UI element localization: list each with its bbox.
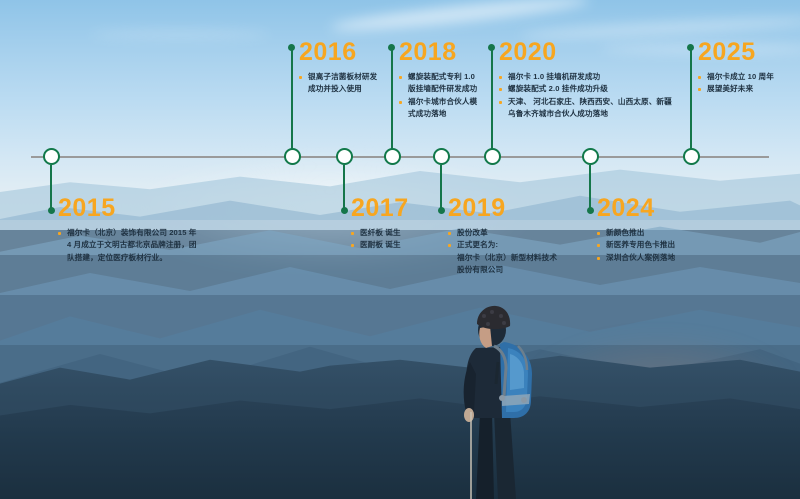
bullet-item: 福尔卡成立 10 周年 (698, 71, 793, 83)
milestone-year-2017: 2017 (351, 196, 441, 221)
timeline-node-2016[interactable] (284, 148, 301, 165)
milestone-2024[interactable]: 2024 新颜色推出 新医养专用色卡推出 深圳合伙人案例落地 (597, 196, 712, 264)
milestone-2016[interactable]: 2016 银离子洁菌板材研发 成功并投入使用 (299, 40, 394, 96)
milestone-year-2019: 2019 (448, 196, 583, 221)
milestone-2017[interactable]: 2017 医纤板 诞生 医耐板 诞生 (351, 196, 441, 252)
milestone-bullets-2019: 股份改革 正式更名为: 福尔卡（北京）新型材料技术 股份有限公司 (448, 227, 583, 276)
bullet-item: 深圳合伙人案例落地 (597, 252, 712, 264)
milestone-2025[interactable]: 2025 福尔卡成立 10 周年 展望美好未来 (698, 40, 793, 96)
timeline-stem-cap-2016 (288, 44, 295, 51)
bullet-item: 银离子洁菌板材研发 (299, 71, 394, 83)
milestone-bullets-2018: 螺旋装配式专利 1.0 版挂墙配件研发成功 福尔卡城市合伙人模 式成功落地 (399, 71, 497, 120)
bullet-item-continued: 福尔卡（北京）新型材料技术 (448, 252, 583, 264)
timeline-node-2024[interactable] (582, 148, 599, 165)
milestone-2019[interactable]: 2019 股份改革 正式更名为: 福尔卡（北京）新型材料技术 股份有限公司 (448, 196, 583, 276)
milestone-year-2015: 2015 (58, 196, 243, 221)
timeline-infographic: 2015 福尔卡（北京）装饰有限公司 2015 年 4 月成立于文明古都北京品牌… (0, 0, 800, 499)
milestone-bullets-2024: 新颜色推出 新医养专用色卡推出 深圳合伙人案例落地 (597, 227, 712, 264)
bullet-item: 螺旋装配式 2.0 挂件成功升级 (499, 83, 674, 95)
milestone-2020[interactable]: 2020 福尔卡 1.0 挂墙机研发成功 螺旋装配式 2.0 挂件成功升级 天津… (499, 40, 674, 120)
timeline-stem-cap-2025 (687, 44, 694, 51)
bullet-item-continued: 队搭建，定位医疗板材行业。 (58, 252, 243, 264)
milestone-bullets-2015: 福尔卡（北京）装饰有限公司 2015 年 4 月成立于文明古都北京品牌注册，团 … (58, 227, 243, 264)
bullet-item-continued: 股份有限公司 (448, 264, 583, 276)
milestone-bullets-2025: 福尔卡成立 10 周年 展望美好未来 (698, 71, 793, 96)
timeline-stem-cap-2015 (48, 207, 55, 214)
timeline-stem-cap-2017 (341, 207, 348, 214)
milestone-bullets-2017: 医纤板 诞生 医耐板 诞生 (351, 227, 441, 252)
timeline-stem-2025 (690, 47, 692, 149)
bullet-item: 天津、 河北石家庄、陕西西安、山西太原、新疆 (499, 96, 674, 108)
milestone-2015[interactable]: 2015 福尔卡（北京）装饰有限公司 2015 年 4 月成立于文明古都北京品牌… (58, 196, 243, 264)
milestone-year-2016: 2016 (299, 40, 394, 65)
bullet-item-continued: 4 月成立于文明古都北京品牌注册，团 (58, 239, 243, 251)
timeline-stem-2016 (291, 47, 293, 149)
bullet-item: 新医养专用色卡推出 (597, 239, 712, 251)
bullet-item: 正式更名为: (448, 239, 583, 251)
bullet-item: 展望美好未来 (698, 83, 793, 95)
milestone-2018[interactable]: 2018 螺旋装配式专利 1.0 版挂墙配件研发成功 福尔卡城市合伙人模 式成功… (399, 40, 497, 120)
milestone-year-2025: 2025 (698, 40, 793, 65)
bullet-item: 股份改革 (448, 227, 583, 239)
timeline-stem-2017 (343, 165, 345, 210)
milestone-year-2024: 2024 (597, 196, 712, 221)
bullet-item: 福尔卡城市合伙人模 (399, 96, 497, 108)
bullet-item-continued: 成功并投入使用 (299, 83, 394, 95)
bullet-item: 医纤板 诞生 (351, 227, 441, 239)
timeline-node-2018[interactable] (384, 148, 401, 165)
timeline-node-2017[interactable] (336, 148, 353, 165)
milestone-year-2018: 2018 (399, 40, 497, 65)
bullet-item-continued: 版挂墙配件研发成功 (399, 83, 497, 95)
timeline-node-2025[interactable] (683, 148, 700, 165)
milestone-bullets-2016: 银离子洁菌板材研发 成功并投入使用 (299, 71, 394, 96)
timeline-stem-cap-2024 (587, 207, 594, 214)
bullet-item-continued: 式成功落地 (399, 108, 497, 120)
timeline-stem-2024 (589, 165, 591, 210)
bullet-item: 福尔卡（北京）装饰有限公司 2015 年 (58, 227, 243, 239)
milestone-year-2020: 2020 (499, 40, 674, 65)
bullet-item: 新颜色推出 (597, 227, 712, 239)
timeline-stem-2015 (50, 165, 52, 210)
timeline-node-2020[interactable] (484, 148, 501, 165)
milestone-bullets-2020: 福尔卡 1.0 挂墙机研发成功 螺旋装配式 2.0 挂件成功升级 天津、 河北石… (499, 71, 674, 120)
bullet-item: 医耐板 诞生 (351, 239, 441, 251)
bullet-item: 福尔卡 1.0 挂墙机研发成功 (499, 71, 674, 83)
timeline-node-2015[interactable] (43, 148, 60, 165)
timeline-node-2019[interactable] (433, 148, 450, 165)
bullet-item-continued: 乌鲁木齐城市合伙人成功落地 (499, 108, 674, 120)
cloud-wisp (90, 30, 270, 39)
bullet-item: 螺旋装配式专利 1.0 (399, 71, 497, 83)
hiker-figure (432, 300, 562, 499)
